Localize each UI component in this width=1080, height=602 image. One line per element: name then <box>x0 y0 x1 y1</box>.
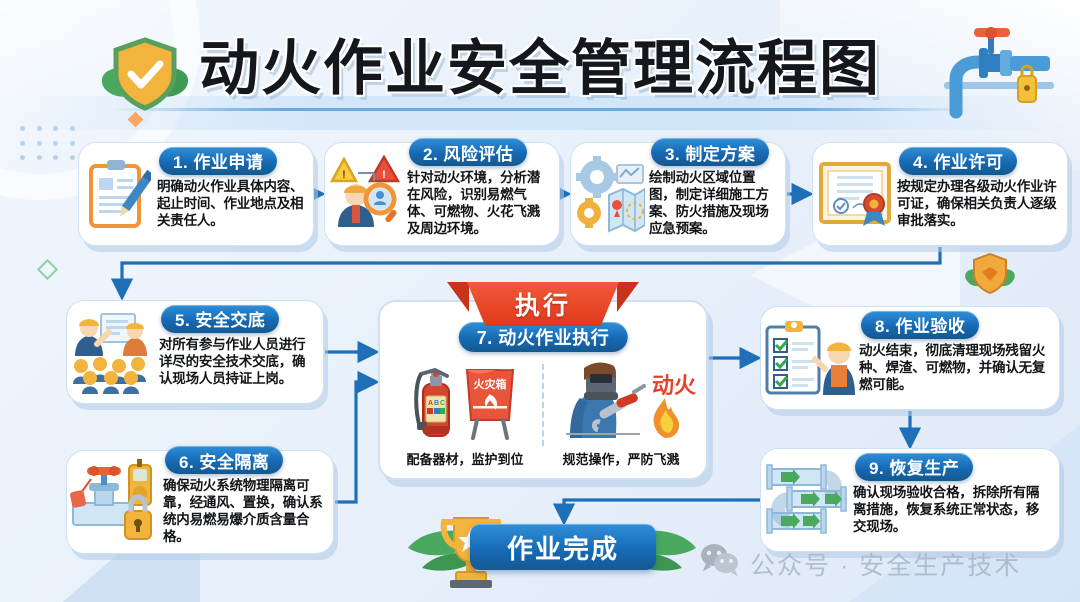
checklist-worker-icon <box>761 317 859 399</box>
clipboard-pen-icon <box>79 156 157 232</box>
step-8-badge: 8. 作业验收 <box>861 311 979 339</box>
step-2-body: 2. 风险评估 针对动火环境，分析潜在风险，识别易燃气体、可燃物、火花飞溅及周边… <box>407 151 559 237</box>
step-3-badge: 3. 制定方案 <box>651 138 769 166</box>
page-header: 动火作业安全管理流程图 <box>0 0 1080 120</box>
step-3-body: 3. 制定方案 绘制动火区域位置图，制定详细施工方案、防火措施及现场应急预案。 <box>649 151 785 237</box>
finish-banner[interactable]: 作业完成 <box>470 524 656 570</box>
svg-text:!: ! <box>382 169 386 181</box>
pipeline-flow-icon <box>761 459 853 541</box>
gears-map-icon <box>571 155 649 233</box>
execution-panel[interactable]: 执行 7. 动火作业执行 动火 ABC <box>378 300 708 480</box>
ribbon-tail-left <box>447 282 469 312</box>
step-card-8[interactable]: 8. 作业验收 动火结束，彻底清理现场残留火种、焊渣、可燃物，并确认无复燃可能。 <box>760 306 1060 410</box>
watermark-text: 公众号 · 安全生产技术 <box>750 546 1021 582</box>
step-6-body: 6. 安全隔离 确保动火系统物理隔离可靠，经通风、置换，确认系统内易燃易爆介质含… <box>163 459 333 545</box>
infographic-canvas: 动火作业安全管理流程图 <box>0 0 1080 602</box>
step-9-body: 9. 恢复生产 确认现场验收合格，拆除所有隔离措施，恢复系统正常状态，移交现场。 <box>853 466 1059 535</box>
step-card-2[interactable]: ! ! 2. 风险评估 针对动火环境，分析潜在风险，识别易燃气体、可燃物、火花飞… <box>324 142 560 246</box>
step-5-badge: 5. 安全交底 <box>161 305 279 333</box>
step-4-badge: 4. 作业许可 <box>899 147 1017 175</box>
step-6-badge: 6. 安全隔离 <box>165 446 283 474</box>
ribbon-tail-right <box>617 282 639 312</box>
fire-box-label: 火灾箱 <box>474 377 507 391</box>
execution-columns: ABC <box>390 360 696 468</box>
step-8-body: 8. 作业验收 动火结束，彻底清理现场残留火种、焊渣、可燃物，并确认无复燃可能。 <box>859 324 1059 393</box>
step-5-body: 5. 安全交底 对所有参与作业人员进行详尽的安全技术交底，确认现场人员持证上岗。 <box>159 318 323 387</box>
step-card-4[interactable]: 4. 作业许可 按规定办理各级动火作业许可证，确保相关负责人逐级审批落实。 <box>812 142 1068 246</box>
execution-divider <box>542 364 544 446</box>
execution-caption-1: 配备器材，监护到位 <box>406 449 523 468</box>
execution-column-equipment: ABC <box>390 360 540 468</box>
wechat-icon <box>700 543 740 584</box>
certificate-icon <box>813 156 897 232</box>
svg-text:C: C <box>440 400 445 407</box>
step-4-body: 4. 作业许可 按规定办理各级动火作业许可证，确保相关负责人逐级审批落实。 <box>897 160 1067 229</box>
welder-icon <box>560 358 646 445</box>
execution-badge: 7. 动火作业执行 <box>459 322 628 352</box>
execution-column-operation: 规范操作，严防飞溅 <box>546 360 696 468</box>
page-title: 动火作业安全管理流程图 <box>0 20 1080 107</box>
dot-grid-decoration <box>20 126 80 164</box>
inspector-warning-icon: ! ! <box>325 155 407 233</box>
step-2-badge: 2. 风险评估 <box>409 138 527 166</box>
svg-text:!: ! <box>342 169 346 181</box>
step-1-body: 1. 作业申请 明确动火作业具体内容、起止时间、作业地点及相关责任人。 <box>157 160 313 229</box>
step-card-3[interactable]: 3. 制定方案 绘制动火区域位置图，制定详细施工方案、防火措施及现场应急预案。 <box>570 142 786 246</box>
step-card-1[interactable]: 1. 作业申请 明确动火作业具体内容、起止时间、作业地点及相关责任人。 <box>78 142 314 246</box>
water-valve-icon <box>922 24 1062 125</box>
step-card-6[interactable]: 6. 安全隔离 确保动火系统物理隔离可靠，经通风、置换，确认系统内易燃易爆介质含… <box>66 450 334 554</box>
safety-briefing-icon <box>67 310 159 394</box>
finish-label: 作业完成 <box>507 529 619 566</box>
step-1-badge: 1. 作业申请 <box>159 147 277 175</box>
execution-ribbon-label: 执行 <box>467 282 619 326</box>
flame-icon <box>648 396 682 445</box>
svg-text:A: A <box>428 400 433 407</box>
fire-box-icon: 火灾箱 <box>463 364 517 445</box>
shield-badge-decoration <box>962 252 1018 303</box>
step-card-9[interactable]: 9. 恢复生产 确认现场验收合格，拆除所有隔离措施，恢复系统正常状态，移交现场。 <box>760 448 1060 552</box>
execution-caption-2: 规范操作，严防飞溅 <box>562 449 679 468</box>
svg-text:B: B <box>434 400 439 407</box>
step-card-5[interactable]: 5. 安全交底 对所有参与作业人员进行详尽的安全技术交底，确认现场人员持证上岗。 <box>66 300 324 404</box>
valve-lock-detector-icon <box>67 459 163 545</box>
watermark: 公众号 · 安全生产技术 <box>700 543 1021 584</box>
fire-extinguisher-icon: ABC <box>413 362 457 445</box>
step-9-badge: 9. 恢复生产 <box>855 453 973 481</box>
diamond-decoration-green <box>37 259 58 280</box>
